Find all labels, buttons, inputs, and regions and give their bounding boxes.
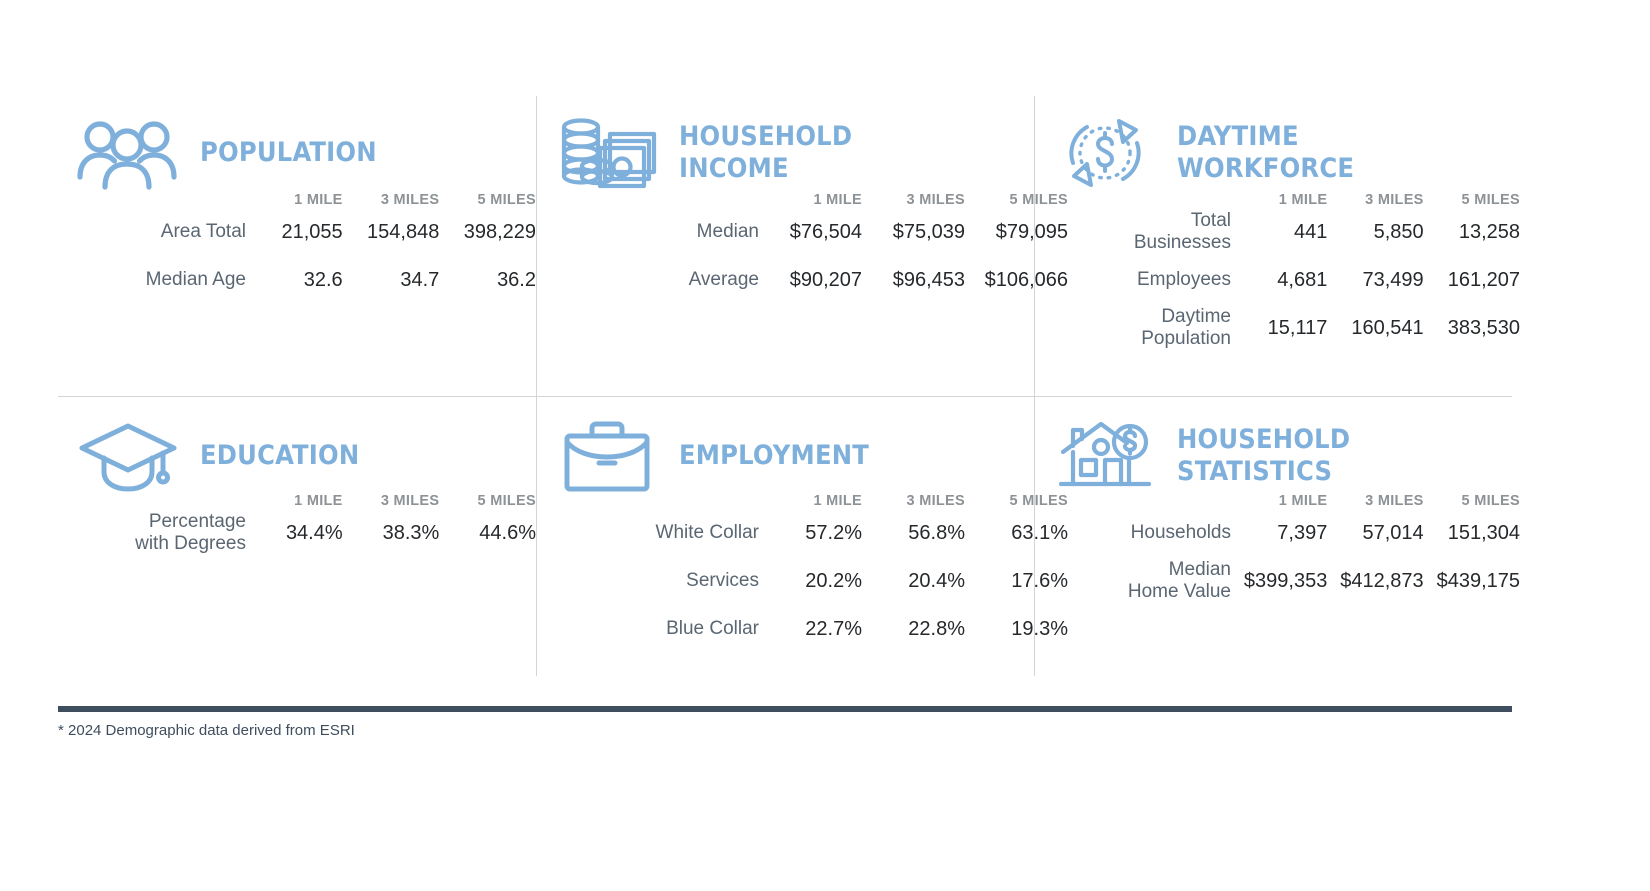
row-label: Services — [577, 557, 759, 605]
cell-value: 22.7% — [759, 605, 862, 653]
section-header: EMPLOYMENT — [537, 397, 1034, 493]
table-row: Households 7,397 57,014 151,304 — [1049, 509, 1520, 557]
cell-value: 22.8% — [862, 605, 965, 653]
section-title: EDUCATION — [200, 440, 359, 472]
household-statistics-table: 1 MILE 3 MILES 5 MILES Households 7,397 … — [1049, 493, 1520, 605]
row-label: Area Total — [64, 208, 246, 256]
demographics-infographic: POPULATION 1 MILE 3 MILES 5 MILES — [0, 0, 1650, 891]
section-table-wrap: 1 MILE 3 MILES 5 MILES Median $76,504 $7… — [537, 192, 1034, 304]
section-header: HOUSEHOLDSTATISTICS — [1035, 397, 1512, 493]
table-row: Area Total 21,055 154,848 398,229 — [64, 208, 536, 256]
footer-note: * 2024 Demographic data derived from ESR… — [58, 722, 355, 739]
cell-value: 20.4% — [862, 557, 965, 605]
section-title-line2: INCOME — [679, 153, 789, 184]
table-row: Percentagewith Degrees 34.4% 38.3% 44.6% — [64, 509, 536, 557]
section-title: HOUSEHOLDSTATISTICS — [1177, 424, 1350, 488]
cell-value: 57.2% — [759, 509, 862, 557]
cell-value: 21,055 — [246, 208, 343, 256]
column-head-5miles: 5 MILES — [1424, 493, 1520, 509]
section-title: HOUSEHOLDINCOME — [679, 121, 852, 185]
row-label: MedianHome Value — [1049, 557, 1231, 605]
table-row: White Collar 57.2% 56.8% 63.1% — [577, 509, 1068, 557]
row-label: Median Age — [64, 256, 246, 304]
row-label: Median — [577, 208, 759, 256]
table-header-row: 1 MILE 3 MILES 5 MILES — [577, 192, 1068, 208]
sections-grid: POPULATION 1 MILE 3 MILES 5 MILES — [58, 96, 1512, 676]
row-label: White Collar — [577, 509, 759, 557]
section-employment: EMPLOYMENT 1 MILE 3 MILES 5 MILES — [536, 396, 1034, 676]
house-dollar-icon — [1053, 417, 1157, 495]
row-label-head — [64, 192, 246, 208]
section-title-line2: STATISTICS — [1177, 456, 1332, 487]
row-label: Households — [1049, 509, 1231, 557]
row-label-line2: Home Value — [1128, 581, 1231, 602]
section-table-wrap: 1 MILE 3 MILES 5 MILES White Collar 57.2… — [537, 493, 1034, 653]
row-label-line1: Median — [1169, 559, 1231, 580]
cell-value: 441 — [1231, 208, 1327, 256]
cell-value: 383,530 — [1424, 304, 1520, 352]
column-head-3miles: 3 MILES — [343, 192, 440, 208]
cell-value: $75,039 — [862, 208, 965, 256]
employment-table: 1 MILE 3 MILES 5 MILES White Collar 57.2… — [577, 493, 1068, 653]
cell-value: $439,175 — [1424, 557, 1520, 605]
section-title: POPULATION — [200, 137, 377, 169]
row-label-line2: Population — [1141, 328, 1231, 349]
population-table: 1 MILE 3 MILES 5 MILES Area Total 21,055… — [64, 192, 536, 304]
education-table: 1 MILE 3 MILES 5 MILES Percentagewith De… — [64, 493, 536, 557]
cell-value: 13,258 — [1424, 208, 1520, 256]
household-income-table: 1 MILE 3 MILES 5 MILES Median $76,504 $7… — [577, 192, 1068, 304]
table-row: MedianHome Value $399,353 $412,873 $439,… — [1049, 557, 1520, 605]
cell-value: 7,397 — [1231, 509, 1327, 557]
cell-value: $412,873 — [1327, 557, 1423, 605]
column-head-1mile: 1 MILE — [246, 192, 343, 208]
section-household-income: HOUSEHOLDINCOME 1 MILE 3 MILES 5 MILES — [536, 96, 1034, 396]
table-row: Average $90,207 $96,453 $106,066 — [577, 256, 1068, 304]
section-household-statistics: HOUSEHOLDSTATISTICS 1 MILE 3 MILES 5 MIL… — [1034, 396, 1512, 676]
column-head-3miles: 3 MILES — [862, 192, 965, 208]
cell-value: 154,848 — [343, 208, 440, 256]
column-head-1mile: 1 MILE — [759, 493, 862, 509]
section-table-wrap: 1 MILE 3 MILES 5 MILES TotalBusinesses 4… — [1035, 192, 1512, 352]
cell-value: 398,229 — [439, 208, 536, 256]
row-label: DaytimePopulation — [1049, 304, 1231, 352]
section-header: HOUSEHOLDINCOME — [537, 96, 1034, 192]
workforce-cycle-icon — [1053, 114, 1157, 192]
cell-value: 161,207 — [1424, 256, 1520, 304]
section-table-wrap: 1 MILE 3 MILES 5 MILES Households 7,397 … — [1035, 493, 1512, 605]
table-row: TotalBusinesses 441 5,850 13,258 — [1049, 208, 1520, 256]
column-head-1mile: 1 MILE — [1231, 493, 1327, 509]
daytime-workforce-table: 1 MILE 3 MILES 5 MILES TotalBusinesses 4… — [1049, 192, 1520, 352]
cell-value: 32.6 — [246, 256, 343, 304]
money-icon — [555, 114, 659, 192]
briefcase-icon — [555, 417, 659, 495]
cell-value: 151,304 — [1424, 509, 1520, 557]
cell-value: 44.6% — [439, 509, 536, 557]
cell-value: 20.2% — [759, 557, 862, 605]
section-table-wrap: 1 MILE 3 MILES 5 MILES Percentagewith De… — [58, 493, 536, 557]
footer-divider-bar — [58, 706, 1512, 712]
section-title: DAYTIMEWORKFORCE — [1177, 121, 1354, 185]
section-title-line1: HOUSEHOLD — [1177, 424, 1350, 455]
section-title-line1: DAYTIME — [1177, 121, 1299, 152]
table-row: Services 20.2% 20.4% 17.6% — [577, 557, 1068, 605]
column-head-5miles: 5 MILES — [439, 493, 536, 509]
cell-value: $76,504 — [759, 208, 862, 256]
cell-value: 15,117 — [1231, 304, 1327, 352]
row-label-head — [577, 192, 759, 208]
column-head-5miles: 5 MILES — [1424, 192, 1520, 208]
cell-value: 4,681 — [1231, 256, 1327, 304]
section-title-line2: WORKFORCE — [1177, 153, 1354, 184]
column-head-3miles: 3 MILES — [862, 493, 965, 509]
cell-value: $96,453 — [862, 256, 965, 304]
cell-value: $399,353 — [1231, 557, 1327, 605]
row-label-line1: Percentage — [149, 511, 246, 532]
table-header-row: 1 MILE 3 MILES 5 MILES — [64, 192, 536, 208]
section-title-line1: HOUSEHOLD — [679, 121, 852, 152]
cell-value: 56.8% — [862, 509, 965, 557]
cell-value: 73,499 — [1327, 256, 1423, 304]
table-row: Blue Collar 22.7% 22.8% 19.3% — [577, 605, 1068, 653]
row-label-line1: Daytime — [1161, 306, 1231, 327]
row-label: Employees — [1049, 256, 1231, 304]
row-label: Average — [577, 256, 759, 304]
section-table-wrap: 1 MILE 3 MILES 5 MILES Area Total 21,055… — [58, 192, 536, 304]
section-header: DAYTIMEWORKFORCE — [1035, 96, 1512, 192]
cell-value: 5,850 — [1327, 208, 1423, 256]
cell-value: 34.4% — [246, 509, 343, 557]
column-head-3miles: 3 MILES — [1327, 493, 1423, 509]
column-head-1mile: 1 MILE — [246, 493, 343, 509]
table-row: Median Age 32.6 34.7 36.2 — [64, 256, 536, 304]
section-daytime-workforce: DAYTIMEWORKFORCE 1 MILE 3 MILES 5 MILES — [1034, 96, 1512, 396]
cell-value: 34.7 — [343, 256, 440, 304]
cell-value: 57,014 — [1327, 509, 1423, 557]
section-header: EDUCATION — [58, 397, 536, 493]
people-icon — [76, 114, 180, 192]
row-label: Percentagewith Degrees — [64, 509, 246, 557]
cell-value: 36.2 — [439, 256, 536, 304]
section-header: POPULATION — [58, 96, 536, 192]
table-row: Employees 4,681 73,499 161,207 — [1049, 256, 1520, 304]
row-label: Blue Collar — [577, 605, 759, 653]
table-row: DaytimePopulation 15,117 160,541 383,530 — [1049, 304, 1520, 352]
table-row: Median $76,504 $75,039 $79,095 — [577, 208, 1068, 256]
cell-value: 38.3% — [343, 509, 440, 557]
graduation-cap-icon — [76, 417, 180, 495]
section-title: EMPLOYMENT — [679, 440, 869, 472]
column-head-1mile: 1 MILE — [1231, 192, 1327, 208]
column-head-1mile: 1 MILE — [759, 192, 862, 208]
cell-value: $90,207 — [759, 256, 862, 304]
row-label-line2: Businesses — [1134, 232, 1231, 253]
row-label-line2: with Degrees — [135, 533, 246, 554]
column-head-5miles: 5 MILES — [439, 192, 536, 208]
column-head-3miles: 3 MILES — [1327, 192, 1423, 208]
row-label: TotalBusinesses — [1049, 208, 1231, 256]
row-label-line1: Total — [1191, 210, 1231, 231]
column-head-3miles: 3 MILES — [343, 493, 440, 509]
cell-value: 160,541 — [1327, 304, 1423, 352]
section-population: POPULATION 1 MILE 3 MILES 5 MILES — [58, 96, 536, 396]
section-education: EDUCATION 1 MILE 3 MILES 5 MILES P — [58, 396, 536, 676]
